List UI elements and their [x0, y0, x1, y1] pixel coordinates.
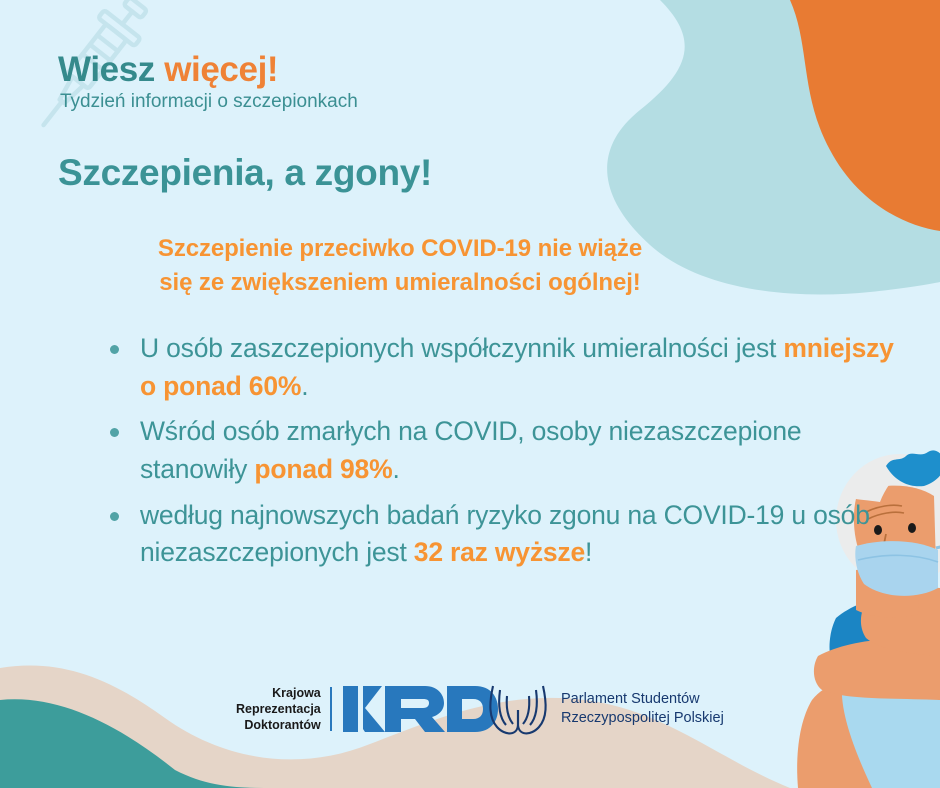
krd-divider — [330, 687, 332, 731]
bullet-dot-icon — [110, 345, 119, 354]
poster-canvas: Wiesz więcej! Tydzień informacji o szcze… — [0, 0, 940, 788]
list-item: U osób zaszczepionych współczynnik umier… — [104, 330, 894, 405]
psrp-word-line-1: Parlament Studentów — [561, 690, 724, 709]
list-item: Wśród osób zmarłych na COVID, osoby niez… — [104, 413, 894, 488]
krd-wordmark-icon — [341, 683, 499, 735]
list-item-text: Wśród osób zmarłych na COVID, osoby niez… — [140, 416, 801, 484]
lead-line-1: Szczepienie przeciwko COVID-19 nie wiąże — [0, 232, 800, 266]
psrp-logo: Parlament Studentów Rzeczypospolitej Pol… — [487, 678, 724, 740]
list-item-text: U osób zaszczepionych współczynnik umier… — [140, 333, 894, 401]
page-title: Szczepienia, a zgony! — [58, 152, 432, 194]
lead-statement: Szczepienie przeciwko COVID-19 nie wiąże… — [0, 232, 800, 300]
footer-logos: Krajowa Reprezentacja Doktorantów — [0, 676, 940, 746]
illustration-eye-right — [908, 523, 916, 533]
krd-logo-words: Krajowa Reprezentacja Doktorantów — [236, 685, 330, 733]
psrp-word-line-2: Rzeczypospolitej Polskiej — [561, 709, 724, 728]
header-block: Wiesz więcej! Tydzień informacji o szcze… — [58, 52, 358, 113]
lead-line-2: się ze zwiększeniem umieralności ogólnej… — [0, 266, 800, 300]
illustration-mask-strap — [936, 546, 940, 556]
kicker-part1: Wiesz — [58, 50, 164, 89]
list-item-text: według najnowszych badań ryzyko zgonu na… — [140, 500, 870, 568]
top-right-orange-blob — [790, 0, 940, 231]
psrp-wings-emblem-icon — [487, 680, 549, 738]
bullet-dot-icon — [110, 428, 119, 437]
kicker-subtitle: Tydzień informacji o szczepionkach — [60, 91, 358, 113]
illustration-hairclip — [886, 450, 940, 486]
krd-logo: Krajowa Reprezentacja Doktorantów — [236, 676, 499, 742]
facts-list: U osób zaszczepionych współczynnik umier… — [104, 330, 894, 580]
krd-word-line-3: Doktorantów — [236, 717, 321, 733]
kicker-title: Wiesz więcej! — [58, 52, 358, 89]
bullet-dot-icon — [110, 512, 119, 521]
list-item: według najnowszych badań ryzyko zgonu na… — [104, 497, 894, 572]
krd-word-line-1: Krajowa — [236, 685, 321, 701]
illustration-hand — [861, 587, 940, 656]
krd-word-line-2: Reprezentacja — [236, 701, 321, 717]
kicker-part2: więcej! — [164, 50, 278, 89]
psrp-logo-words: Parlament Studentów Rzeczypospolitej Pol… — [549, 690, 724, 728]
